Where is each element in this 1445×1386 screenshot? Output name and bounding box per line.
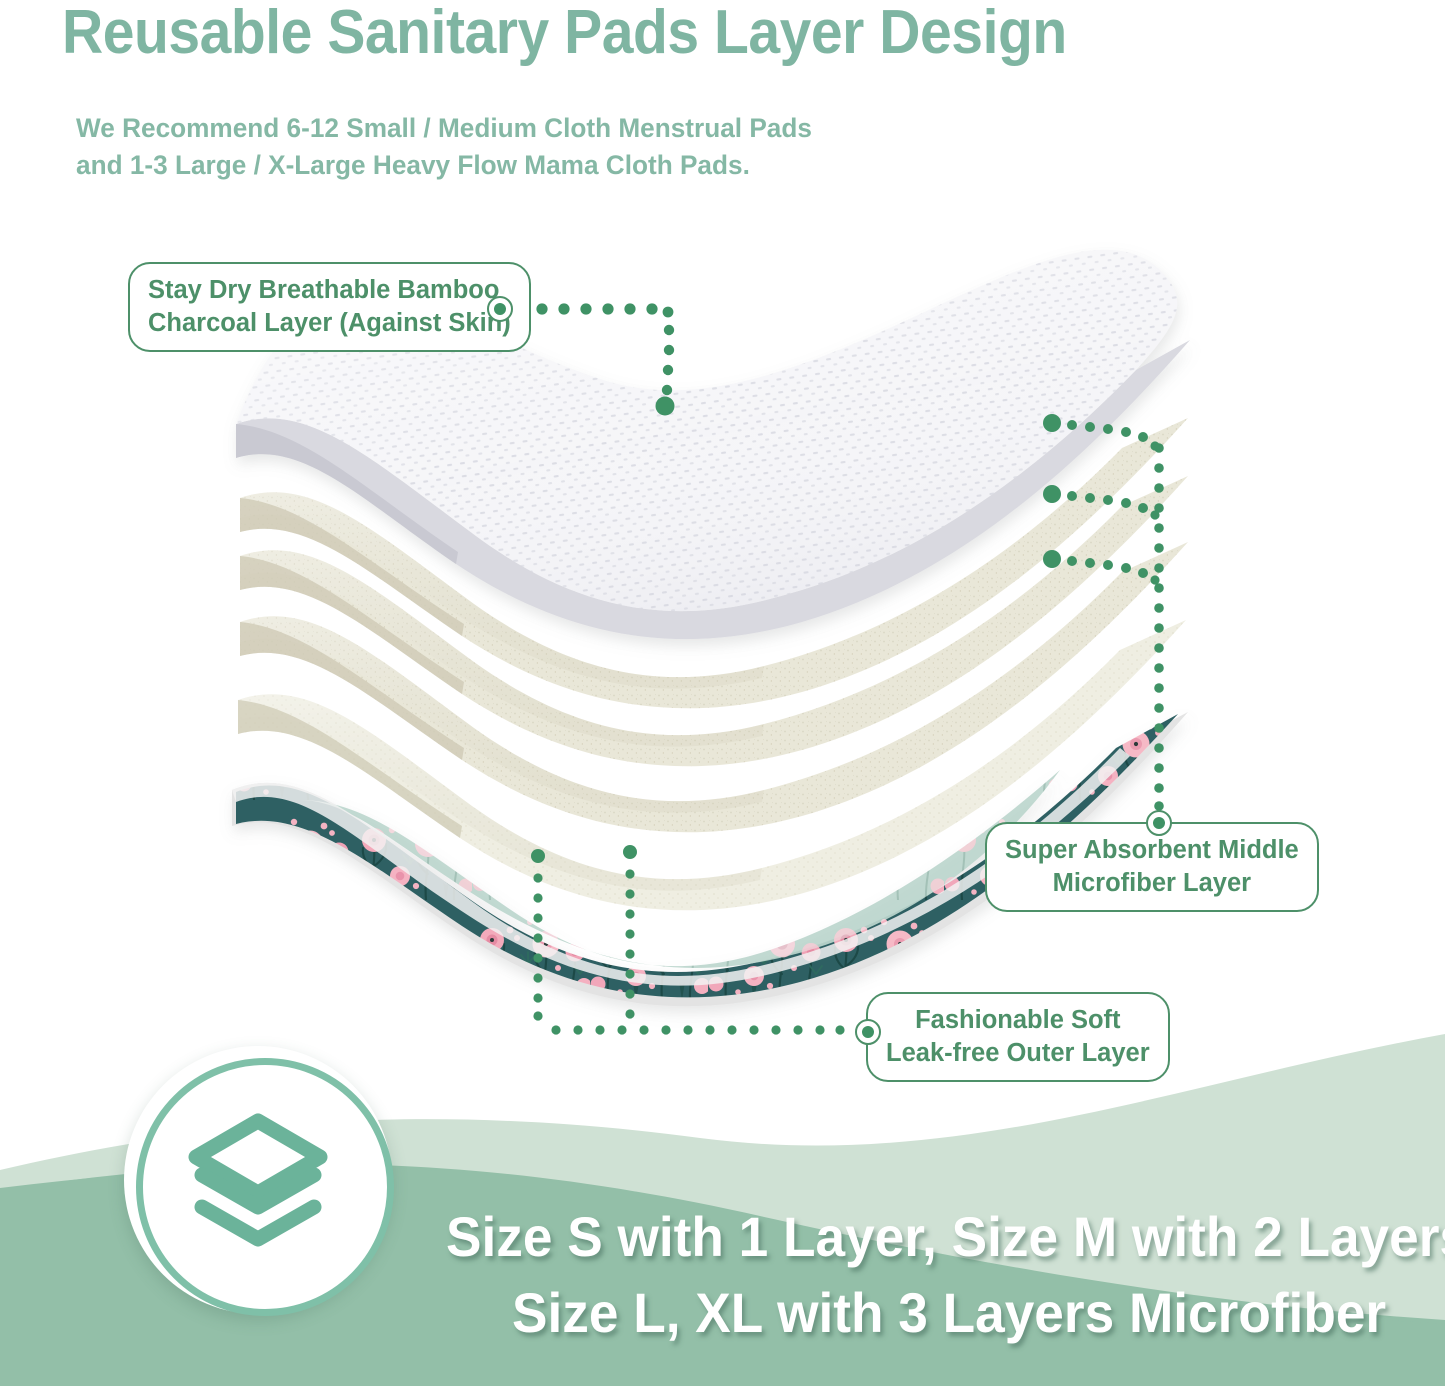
layer-microfiber-4: [240, 542, 1188, 832]
floral-shaded-region: [300, 770, 1060, 968]
connector-top-horizontal: [514, 303, 673, 317]
connector-outer-verticals: [531, 845, 637, 1021]
microfiber-edge-2: [240, 498, 464, 636]
callout-bamboo-charcoal-layer[interactable]: Stay Dry Breathable Bamboo Charcoal Laye…: [128, 262, 531, 352]
callout-top-connector-dot: [487, 296, 513, 322]
logo-badge: [124, 1046, 392, 1314]
infographic-canvas: Reusable Sanitary Pads Layer Design We R…: [0, 0, 1445, 1386]
banner-line-2: Size L, XL with 3 Layers Microfiber: [512, 1274, 1386, 1352]
callout-middle-line-2: Microfiber Layer: [1005, 867, 1299, 900]
banner-line-1: Size S with 1 Layer, Size M with 2 Layer…: [446, 1198, 1445, 1276]
callout-top-line-2: Charcoal Layer (Against Skin): [148, 307, 511, 340]
layer-microfiber-3: [240, 476, 1188, 766]
page-subtitle: We Recommend 6-12 Small / Medium Cloth M…: [76, 110, 812, 184]
callout-middle-connector-dot: [1146, 810, 1172, 836]
layers-stack-icon: [178, 1105, 338, 1255]
page-title: Reusable Sanitary Pads Layer Design: [62, 2, 1067, 64]
layers-icon-bottom-plate: [202, 1207, 314, 1239]
microfiber-face-2: [240, 418, 1188, 708]
subtitle-line-1: We Recommend 6-12 Small / Medium Cloth M…: [76, 110, 812, 147]
microfiber-face-3: [240, 476, 1188, 766]
layers-icon-middle-plate: [202, 1175, 314, 1207]
subtitle-line-2: and 1-3 Large / X-Large Heavy Flow Mama …: [76, 147, 812, 184]
microfiber-face-4: [240, 542, 1188, 832]
callout-super-absorbent-microfiber-layer[interactable]: Super Absorbent Middle Microfiber Layer: [985, 822, 1319, 912]
callout-bottom-line-1: Fashionable Soft: [886, 1004, 1150, 1037]
top-layer-thickness: [236, 340, 1190, 639]
connector-microfiber-branch-1: [1043, 414, 1160, 451]
connector-microfiber-branch-3: [1043, 550, 1160, 585]
layer-microfiber-2: [240, 418, 1188, 708]
connector-microfiber-branch-2: [1043, 485, 1160, 520]
connector-lines: [514, 303, 1163, 1034]
callout-middle-line-1: Super Absorbent Middle: [1005, 834, 1299, 867]
callout-top-line-1: Stay Dry Breathable Bamboo: [148, 274, 511, 307]
layers-icon-top-plate: [196, 1121, 320, 1193]
callout-leak-free-outer-layer[interactable]: Fashionable Soft Leak-free Outer Layer: [866, 992, 1170, 1082]
top-layer-edge: [236, 424, 458, 564]
microfiber-edge-5: [238, 700, 462, 838]
connector-microfiber-trunk: [1154, 443, 1164, 811]
microfiber-edge-3: [240, 556, 464, 694]
callout-bottom-line-2: Leak-free Outer Layer: [886, 1037, 1150, 1070]
connector-top-vertical: [656, 325, 675, 416]
microfiber-edge-4: [240, 622, 464, 760]
callout-bottom-connector-dot: [855, 1019, 881, 1045]
